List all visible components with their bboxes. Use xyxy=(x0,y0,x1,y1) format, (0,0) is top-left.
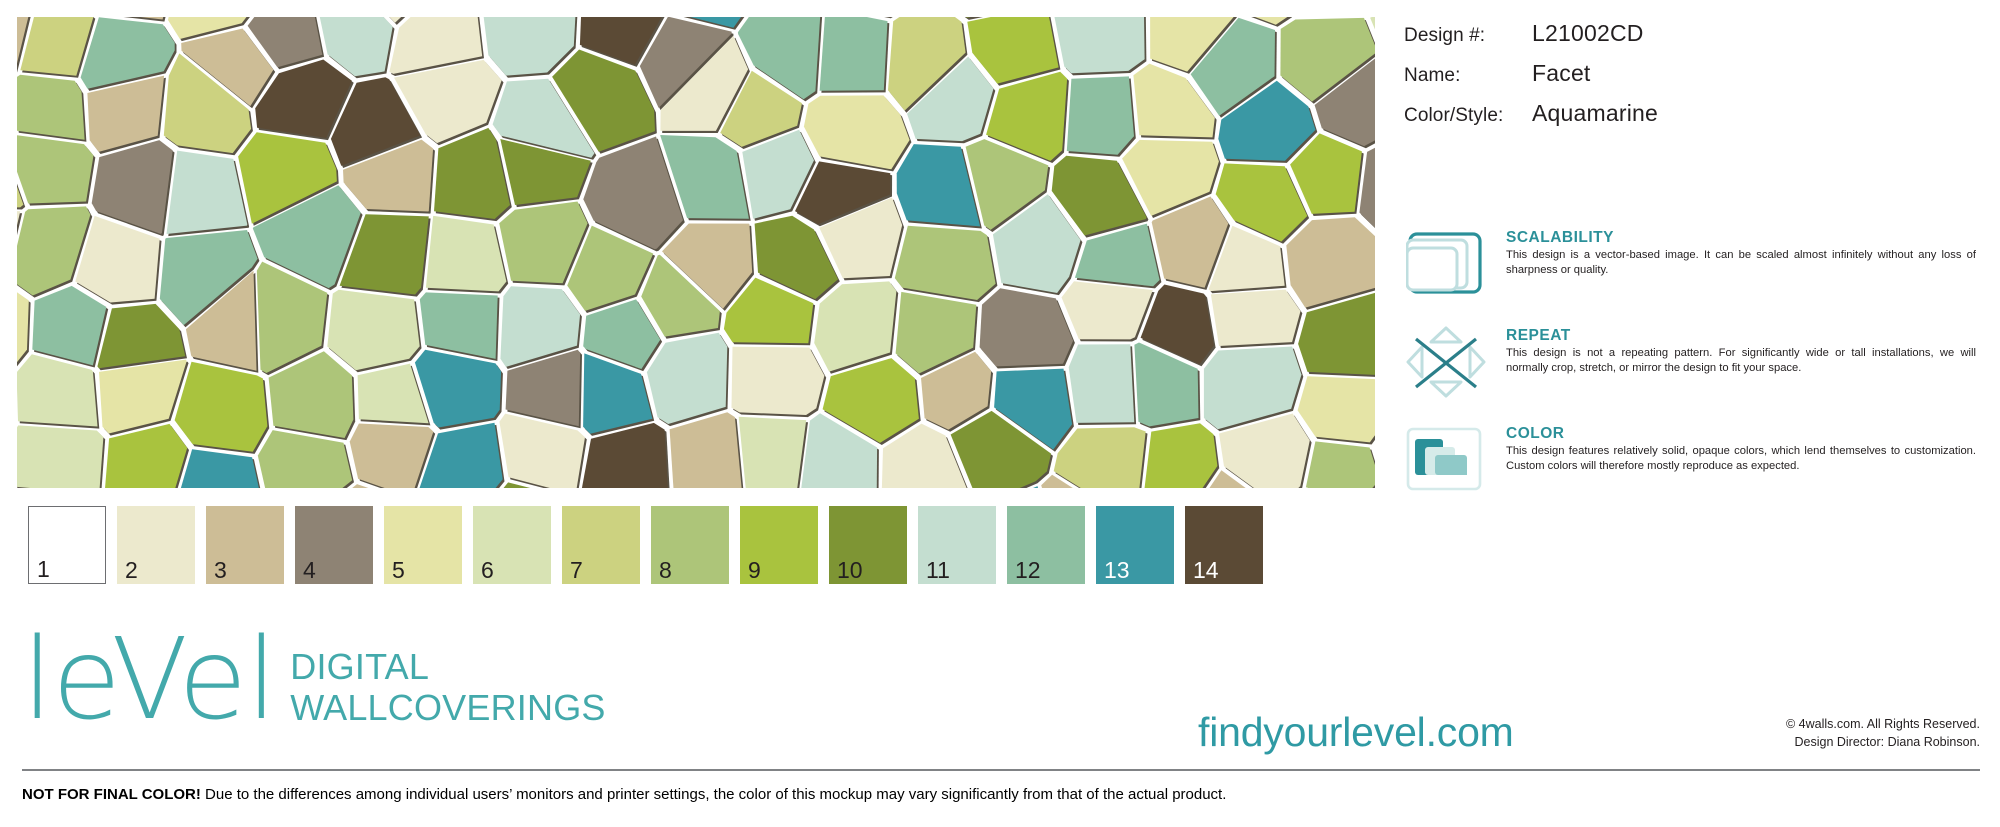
color-swatch-number: 10 xyxy=(837,559,863,582)
mosaic-tile xyxy=(820,17,890,93)
color-swatch-strip: 1234567891011121314 xyxy=(28,506,1263,584)
color-swatch-number: 13 xyxy=(1104,559,1130,582)
feature-body-color: This design features relatively solid, o… xyxy=(1506,444,1976,473)
mosaic-tile xyxy=(1069,344,1136,425)
mosaic-tile xyxy=(1298,376,1375,444)
color-swatch-10[interactable]: 10 xyxy=(829,506,907,584)
feature-body-scalability: This design is a vector-based image. It … xyxy=(1506,248,1976,277)
mosaic-tile xyxy=(420,292,500,361)
mosaic-tile xyxy=(350,424,435,489)
mosaic-tile xyxy=(17,75,86,142)
color-swatch-number: 1 xyxy=(37,558,50,581)
color-swatch-number: 4 xyxy=(303,559,316,582)
copyright-block: © 4walls.com. All Rights Reserved. Desig… xyxy=(1530,715,1980,751)
mosaic-tile xyxy=(415,350,503,430)
color-swatch-number: 11 xyxy=(926,559,950,582)
mosaic-tile xyxy=(17,135,95,205)
color-swatch-number: 8 xyxy=(659,559,672,582)
mosaic-tile xyxy=(32,286,108,368)
feature-list: SCALABILITY This design is a vector-base… xyxy=(1400,228,1990,522)
mosaic-tile xyxy=(1054,427,1148,488)
color-swatch-6[interactable]: 6 xyxy=(473,506,551,584)
color-swatch-number: 12 xyxy=(1015,559,1041,582)
color-swatch-1[interactable]: 1 xyxy=(28,506,106,584)
mosaic-tile xyxy=(1067,76,1136,156)
spec-value-design-number: L21002CD xyxy=(1532,20,1644,47)
feature-repeat: REPEAT This design is not a repeating pa… xyxy=(1400,326,1990,398)
feature-body-repeat: This design is not a repeating pattern. … xyxy=(1506,346,1976,375)
disclaimer-body: Due to the differences among individual … xyxy=(205,786,1226,803)
mosaic-tile xyxy=(327,290,421,373)
spec-row-color-style: Color/Style: Aquamarine xyxy=(1404,100,1984,127)
mosaic-tile xyxy=(1306,441,1375,488)
color-swatch-number: 3 xyxy=(214,559,227,582)
mosaic-pattern-svg xyxy=(17,17,1375,488)
footer-divider xyxy=(22,769,1980,771)
disclaimer-text: NOT FOR FINAL COLOR! Due to the differen… xyxy=(22,786,1226,804)
spec-value-color-style: Aquamarine xyxy=(1532,100,1658,127)
copyright-line-1: © 4walls.com. All Rights Reserved. xyxy=(1530,715,1980,733)
mosaic-tile xyxy=(167,151,250,237)
feature-color: COLOR This design features relatively so… xyxy=(1400,424,1990,496)
mosaic-tile xyxy=(1211,290,1302,349)
color-swatch-number: 14 xyxy=(1193,559,1219,582)
color-swatch-7[interactable]: 7 xyxy=(562,506,640,584)
spec-label-name: Name: xyxy=(1404,65,1532,87)
color-swatch-4[interactable]: 4 xyxy=(295,506,373,584)
mosaic-tile xyxy=(1144,423,1219,488)
mosaic-tile xyxy=(647,333,729,426)
feature-title-repeat: REPEAT xyxy=(1506,327,1990,344)
color-swatch-number: 6 xyxy=(481,559,494,582)
mosaic-tile xyxy=(732,347,827,417)
color-swatch-12[interactable]: 12 xyxy=(1007,506,1085,584)
color-swatch-number: 9 xyxy=(748,559,761,582)
color-icon xyxy=(1400,424,1492,496)
mosaic-tile xyxy=(175,449,263,488)
scalability-icon xyxy=(1400,228,1492,300)
feature-title-color: COLOR xyxy=(1506,425,1990,442)
spec-row-name: Name: Facet xyxy=(1404,60,1984,87)
color-swatch-8[interactable]: 8 xyxy=(651,506,729,584)
mosaic-tile xyxy=(1052,17,1146,75)
copyright-line-2: Design Director: Diana Robinson. xyxy=(1530,733,1980,751)
pattern-preview xyxy=(17,17,1375,488)
color-swatch-number: 2 xyxy=(125,559,138,582)
disclaimer-headline: NOT FOR FINAL COLOR! xyxy=(22,786,201,803)
mosaic-tile xyxy=(670,412,745,488)
logo-wordmark: leVel xyxy=(22,632,276,728)
spec-label-color-style: Color/Style: xyxy=(1404,105,1532,127)
color-swatch-9[interactable]: 9 xyxy=(740,506,818,584)
color-swatch-2[interactable]: 2 xyxy=(117,506,195,584)
repeat-icon xyxy=(1400,326,1492,398)
mosaic-tile xyxy=(1062,281,1155,341)
mosaic-tile xyxy=(980,288,1075,368)
brand-logo: leVel DIGITAL WALLCOVERINGS xyxy=(22,632,606,728)
website-url[interactable]: findyourlevel.com xyxy=(1198,712,1514,753)
mosaic-tile xyxy=(426,216,508,294)
spec-row-design-number: Design #: L21002CD xyxy=(1404,20,1984,47)
color-swatch-3[interactable]: 3 xyxy=(206,506,284,584)
color-swatch-11[interactable]: 11 xyxy=(918,506,996,584)
mosaic-tile xyxy=(804,95,911,171)
logo-tagline: DIGITAL WALLCOVERINGS xyxy=(290,646,605,728)
color-swatch-number: 5 xyxy=(392,559,405,582)
mosaic-tile xyxy=(739,417,808,488)
color-swatch-13[interactable]: 13 xyxy=(1096,506,1174,584)
color-swatch-5[interactable]: 5 xyxy=(384,506,462,584)
mosaic-tile xyxy=(175,362,270,454)
mosaic-tile xyxy=(17,425,105,488)
design-spec-block: Design #: L21002CD Name: Facet Color/Sty… xyxy=(1404,20,1984,140)
mosaic-tile xyxy=(99,360,189,436)
feature-title-scalability: SCALABILITY xyxy=(1506,229,1990,246)
color-swatch-number: 7 xyxy=(570,559,583,582)
spec-label-design-number: Design #: xyxy=(1404,25,1532,47)
spec-value-name: Facet xyxy=(1532,60,1591,87)
mosaic-tile xyxy=(1286,217,1375,309)
logo-tagline-line1: DIGITAL xyxy=(290,646,605,687)
feature-scalability: SCALABILITY This design is a vector-base… xyxy=(1400,228,1990,300)
mosaic-tile xyxy=(895,226,998,302)
color-swatch-14[interactable]: 14 xyxy=(1185,506,1263,584)
logo-tagline-line2: WALLCOVERINGS xyxy=(290,687,605,728)
